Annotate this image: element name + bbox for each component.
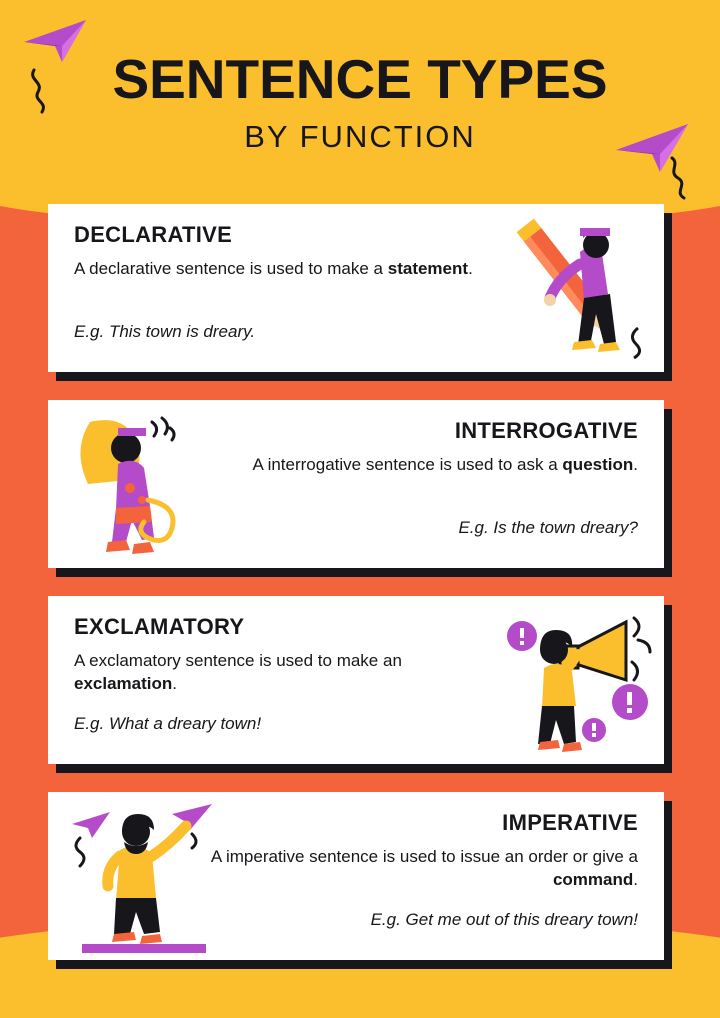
squiggle-top-left-icon: [26, 68, 58, 114]
card-body: A declarative sentence is used to make a…: [74, 258, 504, 281]
card-title: IMPERATIVE: [502, 810, 638, 836]
squiggle-top-right-icon: [666, 156, 700, 200]
card-body: A exclamatory sentence is used to make a…: [74, 650, 504, 696]
person-with-question-squiggle-illustration: [60, 404, 210, 564]
poster: SENTENCE TYPES BY FUNCTION DECLARATIVE A…: [0, 0, 720, 1018]
card-title: INTERROGATIVE: [455, 418, 638, 444]
card-imperative: IMPERATIVE A imperative sentence is used…: [48, 792, 664, 960]
card-example: E.g. Is the town dreary?: [208, 518, 638, 538]
bottom-color-band: [0, 952, 720, 1018]
paper-plane-top-left-icon: [22, 18, 92, 64]
card-body-post: .: [172, 674, 177, 693]
card-body-keyword: statement: [388, 259, 468, 278]
person-with-megaphone-illustration: [498, 602, 658, 758]
card-declarative: DECLARATIVE A declarative sentence is us…: [48, 204, 664, 372]
card-body-keyword: exclamation: [74, 674, 172, 693]
card-interrogative: INTERROGATIVE A interrogative sentence i…: [48, 400, 664, 568]
card-body-keyword: question: [562, 455, 633, 474]
card-example: E.g. This town is dreary.: [74, 322, 504, 342]
card-example: E.g. Get me out of this dreary town!: [208, 910, 638, 930]
person-with-giant-pencil-illustration: [514, 212, 654, 364]
card-example: E.g. What a dreary town!: [74, 714, 504, 734]
card-body-pre: A exclamatory sentence is used to make a…: [74, 651, 402, 670]
card-body-post: .: [468, 259, 473, 278]
person-pointing-with-paper-planes-illustration: [62, 798, 222, 958]
card-title: EXCLAMATORY: [74, 614, 244, 640]
card-body-pre: A imperative sentence is used to issue a…: [211, 847, 638, 866]
card-body: A imperative sentence is used to issue a…: [208, 846, 638, 892]
card-body-post: .: [633, 455, 638, 474]
page-title: SENTENCE TYPES: [0, 52, 720, 107]
card-exclamatory: EXCLAMATORY A exclamatory sentence is us…: [48, 596, 664, 764]
card-body-post: .: [633, 870, 638, 889]
card-body: A interrogative sentence is used to ask …: [208, 454, 638, 477]
card-body-keyword: command: [553, 870, 633, 889]
card-body-pre: A interrogative sentence is used to ask …: [252, 455, 562, 474]
card-body-pre: A declarative sentence is used to make a: [74, 259, 388, 278]
card-title: DECLARATIVE: [74, 222, 232, 248]
